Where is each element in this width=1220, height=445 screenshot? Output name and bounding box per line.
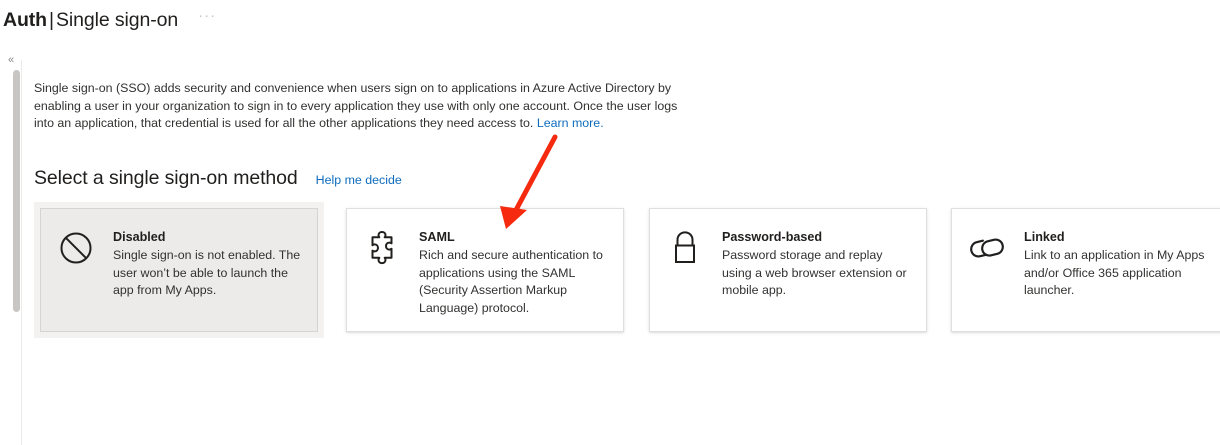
no-entry-icon	[57, 229, 95, 267]
card-description: Single sign-on is not enabled. The user …	[113, 247, 303, 300]
page-title-app: Auth	[3, 9, 47, 31]
page-title: Auth|Single sign-on	[3, 8, 178, 32]
scrollbar-thumb[interactable]	[13, 70, 20, 312]
puzzle-piece-icon	[363, 229, 401, 267]
card-title: Disabled	[113, 228, 303, 246]
sso-method-card-saml[interactable]: SAML Rich and secure authentication to a…	[346, 208, 624, 332]
collapse-panel-icon[interactable]: «	[8, 55, 14, 66]
card-description: Link to an application in My Apps and/or…	[1024, 247, 1214, 300]
help-me-decide-link[interactable]: Help me decide	[316, 171, 402, 189]
card-title: SAML	[419, 228, 609, 246]
card-description: Rich and secure authentication to applic…	[419, 247, 609, 317]
card-title: Linked	[1024, 228, 1214, 246]
page-title-separator: |	[47, 9, 56, 31]
card-description: Password storage and replay using a web …	[722, 247, 912, 300]
card-title: Password-based	[722, 228, 912, 246]
content-pane: Single sign-on (SSO) adds security and c…	[22, 60, 1220, 445]
intro-paragraph: Single sign-on (SSO) adds security and c…	[34, 80, 679, 133]
section-header: Select a single sign-on method Help me d…	[34, 165, 402, 191]
chain-link-icon	[968, 229, 1006, 267]
sso-method-card-linked[interactable]: Linked Link to an application in My Apps…	[951, 208, 1220, 332]
card-body: SAML Rich and secure authentication to a…	[419, 227, 609, 317]
page-title-section: Single sign-on	[56, 9, 178, 31]
card-body: Password-based Password storage and repl…	[722, 227, 912, 300]
sso-method-card-password-based[interactable]: Password-based Password storage and repl…	[649, 208, 927, 332]
padlock-icon	[666, 229, 704, 267]
card-body: Disabled Single sign-on is not enabled. …	[113, 227, 303, 300]
learn-more-link[interactable]: Learn more.	[537, 116, 604, 130]
sso-method-card-disabled[interactable]: Disabled Single sign-on is not enabled. …	[40, 208, 318, 332]
sso-method-cards: Disabled Single sign-on is not enabled. …	[34, 208, 1220, 348]
page-header: Auth|Single sign-on ···	[0, 0, 1220, 40]
more-options-icon[interactable]: ···	[196, 7, 218, 25]
card-body: Linked Link to an application in My Apps…	[1024, 227, 1214, 300]
section-title: Select a single sign-on method	[34, 165, 298, 191]
